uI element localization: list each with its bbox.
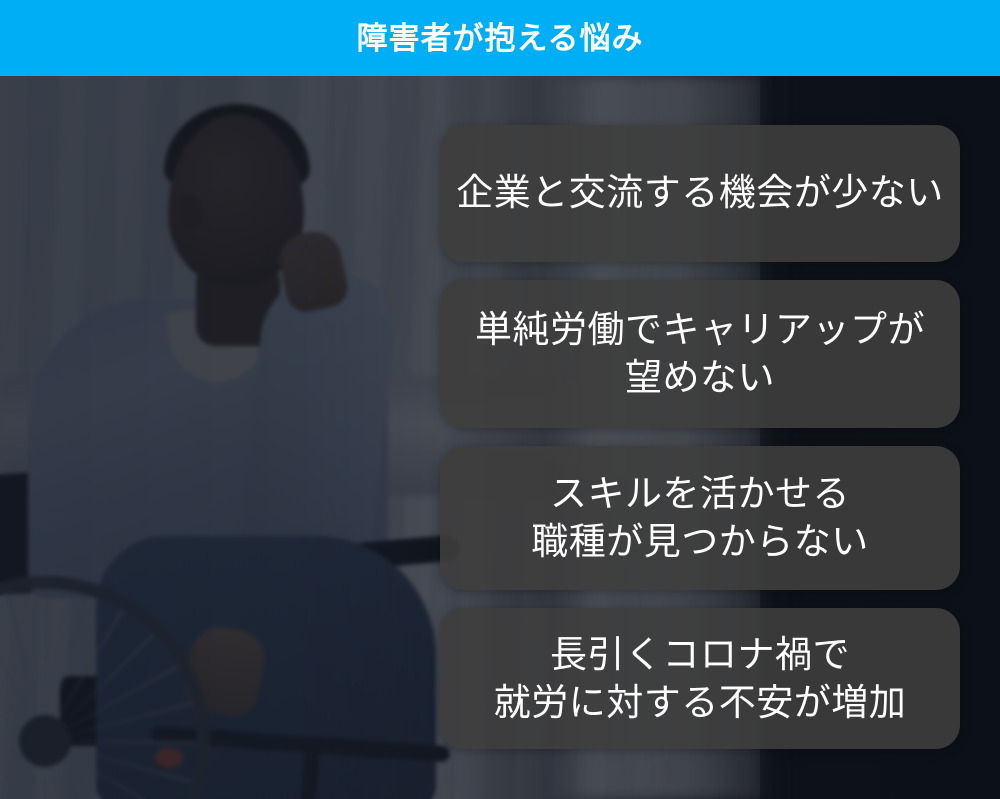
concern-card-text: スキルを活かせる 職種が見つからない xyxy=(517,470,883,566)
concern-card-list: 企業と交流する機会が少ない 単純労働でキャリアップが 望めない スキルを活かせる… xyxy=(440,125,960,749)
concern-card[interactable]: 単純労働でキャリアップが 望めない xyxy=(440,280,960,429)
page-title: 障害者が抱える悩み xyxy=(356,23,643,54)
header-bar: 障害者が抱える悩み xyxy=(0,0,1000,76)
concern-card[interactable]: スキルを活かせる 職種が見つからない xyxy=(440,446,960,590)
content-stage: 企業と交流する機会が少ない 単純労働でキャリアップが 望めない スキルを活かせる… xyxy=(0,76,1000,799)
slide-root: 障害者が抱える悩み xyxy=(0,0,1000,799)
concern-card-text: 企業と交流する機会が少ない xyxy=(442,169,958,217)
concern-card-text: 長引くコロナ禍で 就労に対する不安が増加 xyxy=(480,631,921,727)
concern-card-text: 単純労働でキャリアップが 望めない xyxy=(461,306,939,402)
person-ear xyxy=(176,194,202,230)
concern-card[interactable]: 長引くコロナ禍で 就労に対する不安が増加 xyxy=(440,608,960,749)
concern-card[interactable]: 企業と交流する機会が少ない xyxy=(440,125,960,262)
